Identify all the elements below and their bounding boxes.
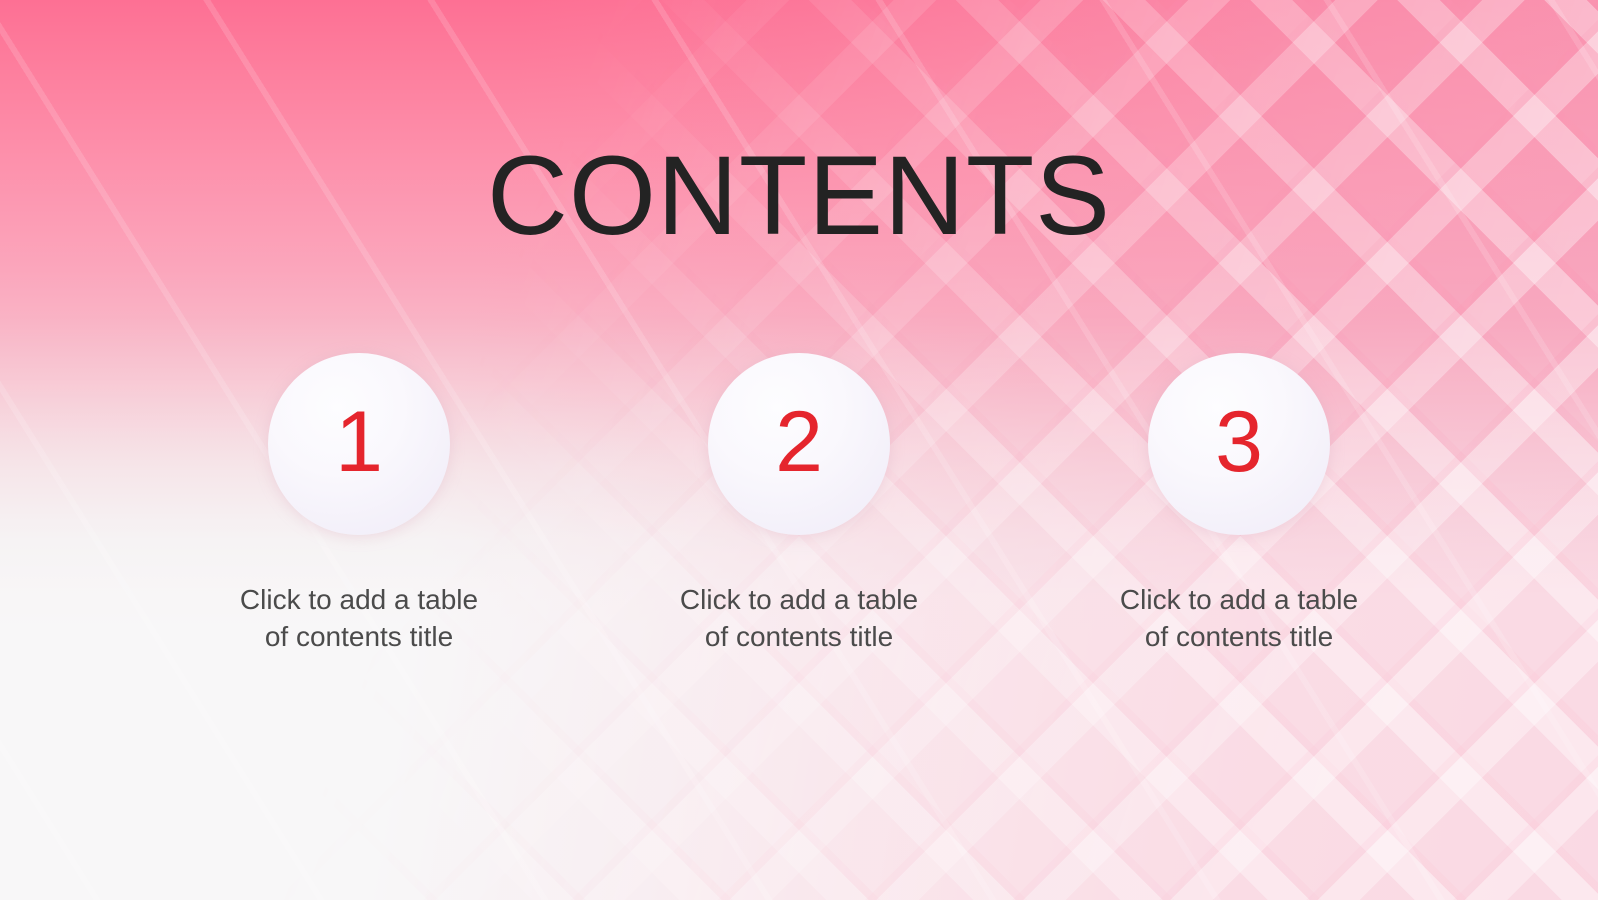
number-badge-label-2: 2: [775, 399, 823, 485]
contents-item-2[interactable]: 2 Click to add a table of contents title: [579, 353, 1019, 655]
contents-item-caption-3[interactable]: Click to add a table of contents title: [1119, 581, 1359, 655]
contents-item-caption-2[interactable]: Click to add a table of contents title: [679, 581, 919, 655]
number-badge-label-1: 1: [335, 399, 383, 485]
contents-item-list: 1 Click to add a table of contents title…: [0, 353, 1598, 655]
presentation-slide: CONTENTS 1 Click to add a table of conte…: [0, 0, 1598, 900]
number-badge-circle-2[interactable]: 2: [708, 353, 890, 535]
number-badge-circle-1[interactable]: 1: [268, 353, 450, 535]
slide-title[interactable]: CONTENTS: [0, 140, 1598, 252]
slide-content: CONTENTS 1 Click to add a table of conte…: [0, 0, 1598, 900]
number-badge-circle-3[interactable]: 3: [1148, 353, 1330, 535]
contents-item-caption-1[interactable]: Click to add a table of contents title: [239, 581, 479, 655]
number-badge-label-3: 3: [1215, 399, 1263, 485]
contents-item-1[interactable]: 1 Click to add a table of contents title: [139, 353, 579, 655]
contents-item-3[interactable]: 3 Click to add a table of contents title: [1019, 353, 1459, 655]
